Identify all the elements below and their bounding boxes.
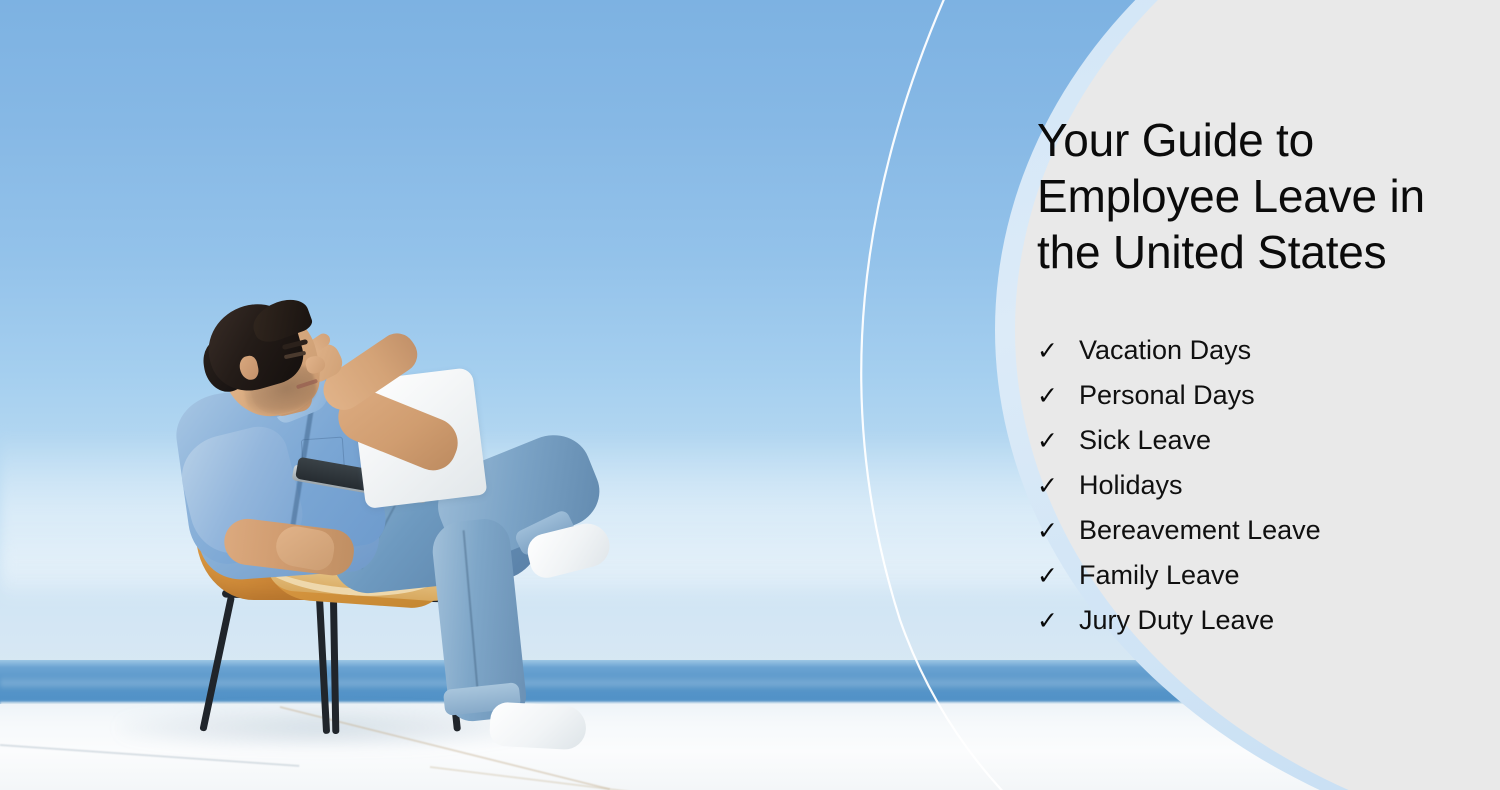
chair-leg bbox=[199, 595, 235, 731]
seated-man-scene bbox=[0, 0, 900, 790]
list-item: ✓ Bereavement Leave bbox=[1037, 514, 1457, 548]
list-item-label: Family Leave bbox=[1079, 559, 1240, 592]
list-item: ✓ Jury Duty Leave bbox=[1037, 604, 1457, 638]
check-icon: ✓ bbox=[1037, 335, 1079, 368]
check-icon: ✓ bbox=[1037, 605, 1079, 638]
list-item-label: Holidays bbox=[1079, 469, 1183, 502]
check-icon: ✓ bbox=[1037, 380, 1079, 413]
panel-content: Your Guide to Employee Leave in the Unit… bbox=[1037, 112, 1457, 649]
page-title: Your Guide to Employee Leave in the Unit… bbox=[1037, 112, 1457, 280]
list-item: ✓ Personal Days bbox=[1037, 379, 1457, 413]
list-item-label: Sick Leave bbox=[1079, 424, 1211, 457]
list-item-label: Jury Duty Leave bbox=[1079, 604, 1274, 637]
list-item-label: Personal Days bbox=[1079, 379, 1255, 412]
white-sock bbox=[489, 702, 587, 751]
chair-leg bbox=[316, 598, 330, 734]
list-item: ✓ Sick Leave bbox=[1037, 424, 1457, 458]
check-icon: ✓ bbox=[1037, 515, 1079, 548]
list-item-label: Vacation Days bbox=[1079, 334, 1251, 367]
check-icon: ✓ bbox=[1037, 560, 1079, 593]
check-icon: ✓ bbox=[1037, 470, 1079, 503]
check-icon: ✓ bbox=[1037, 425, 1079, 458]
list-item-label: Bereavement Leave bbox=[1079, 514, 1321, 547]
chair-leg bbox=[330, 600, 339, 734]
list-item: ✓ Vacation Days bbox=[1037, 334, 1457, 368]
leave-types-checklist: ✓ Vacation Days ✓ Personal Days ✓ Sick L… bbox=[1037, 334, 1457, 638]
list-item: ✓ Family Leave bbox=[1037, 559, 1457, 593]
list-item: ✓ Holidays bbox=[1037, 469, 1457, 503]
leave-guide-banner: Your Guide to Employee Leave in the Unit… bbox=[0, 0, 1500, 790]
